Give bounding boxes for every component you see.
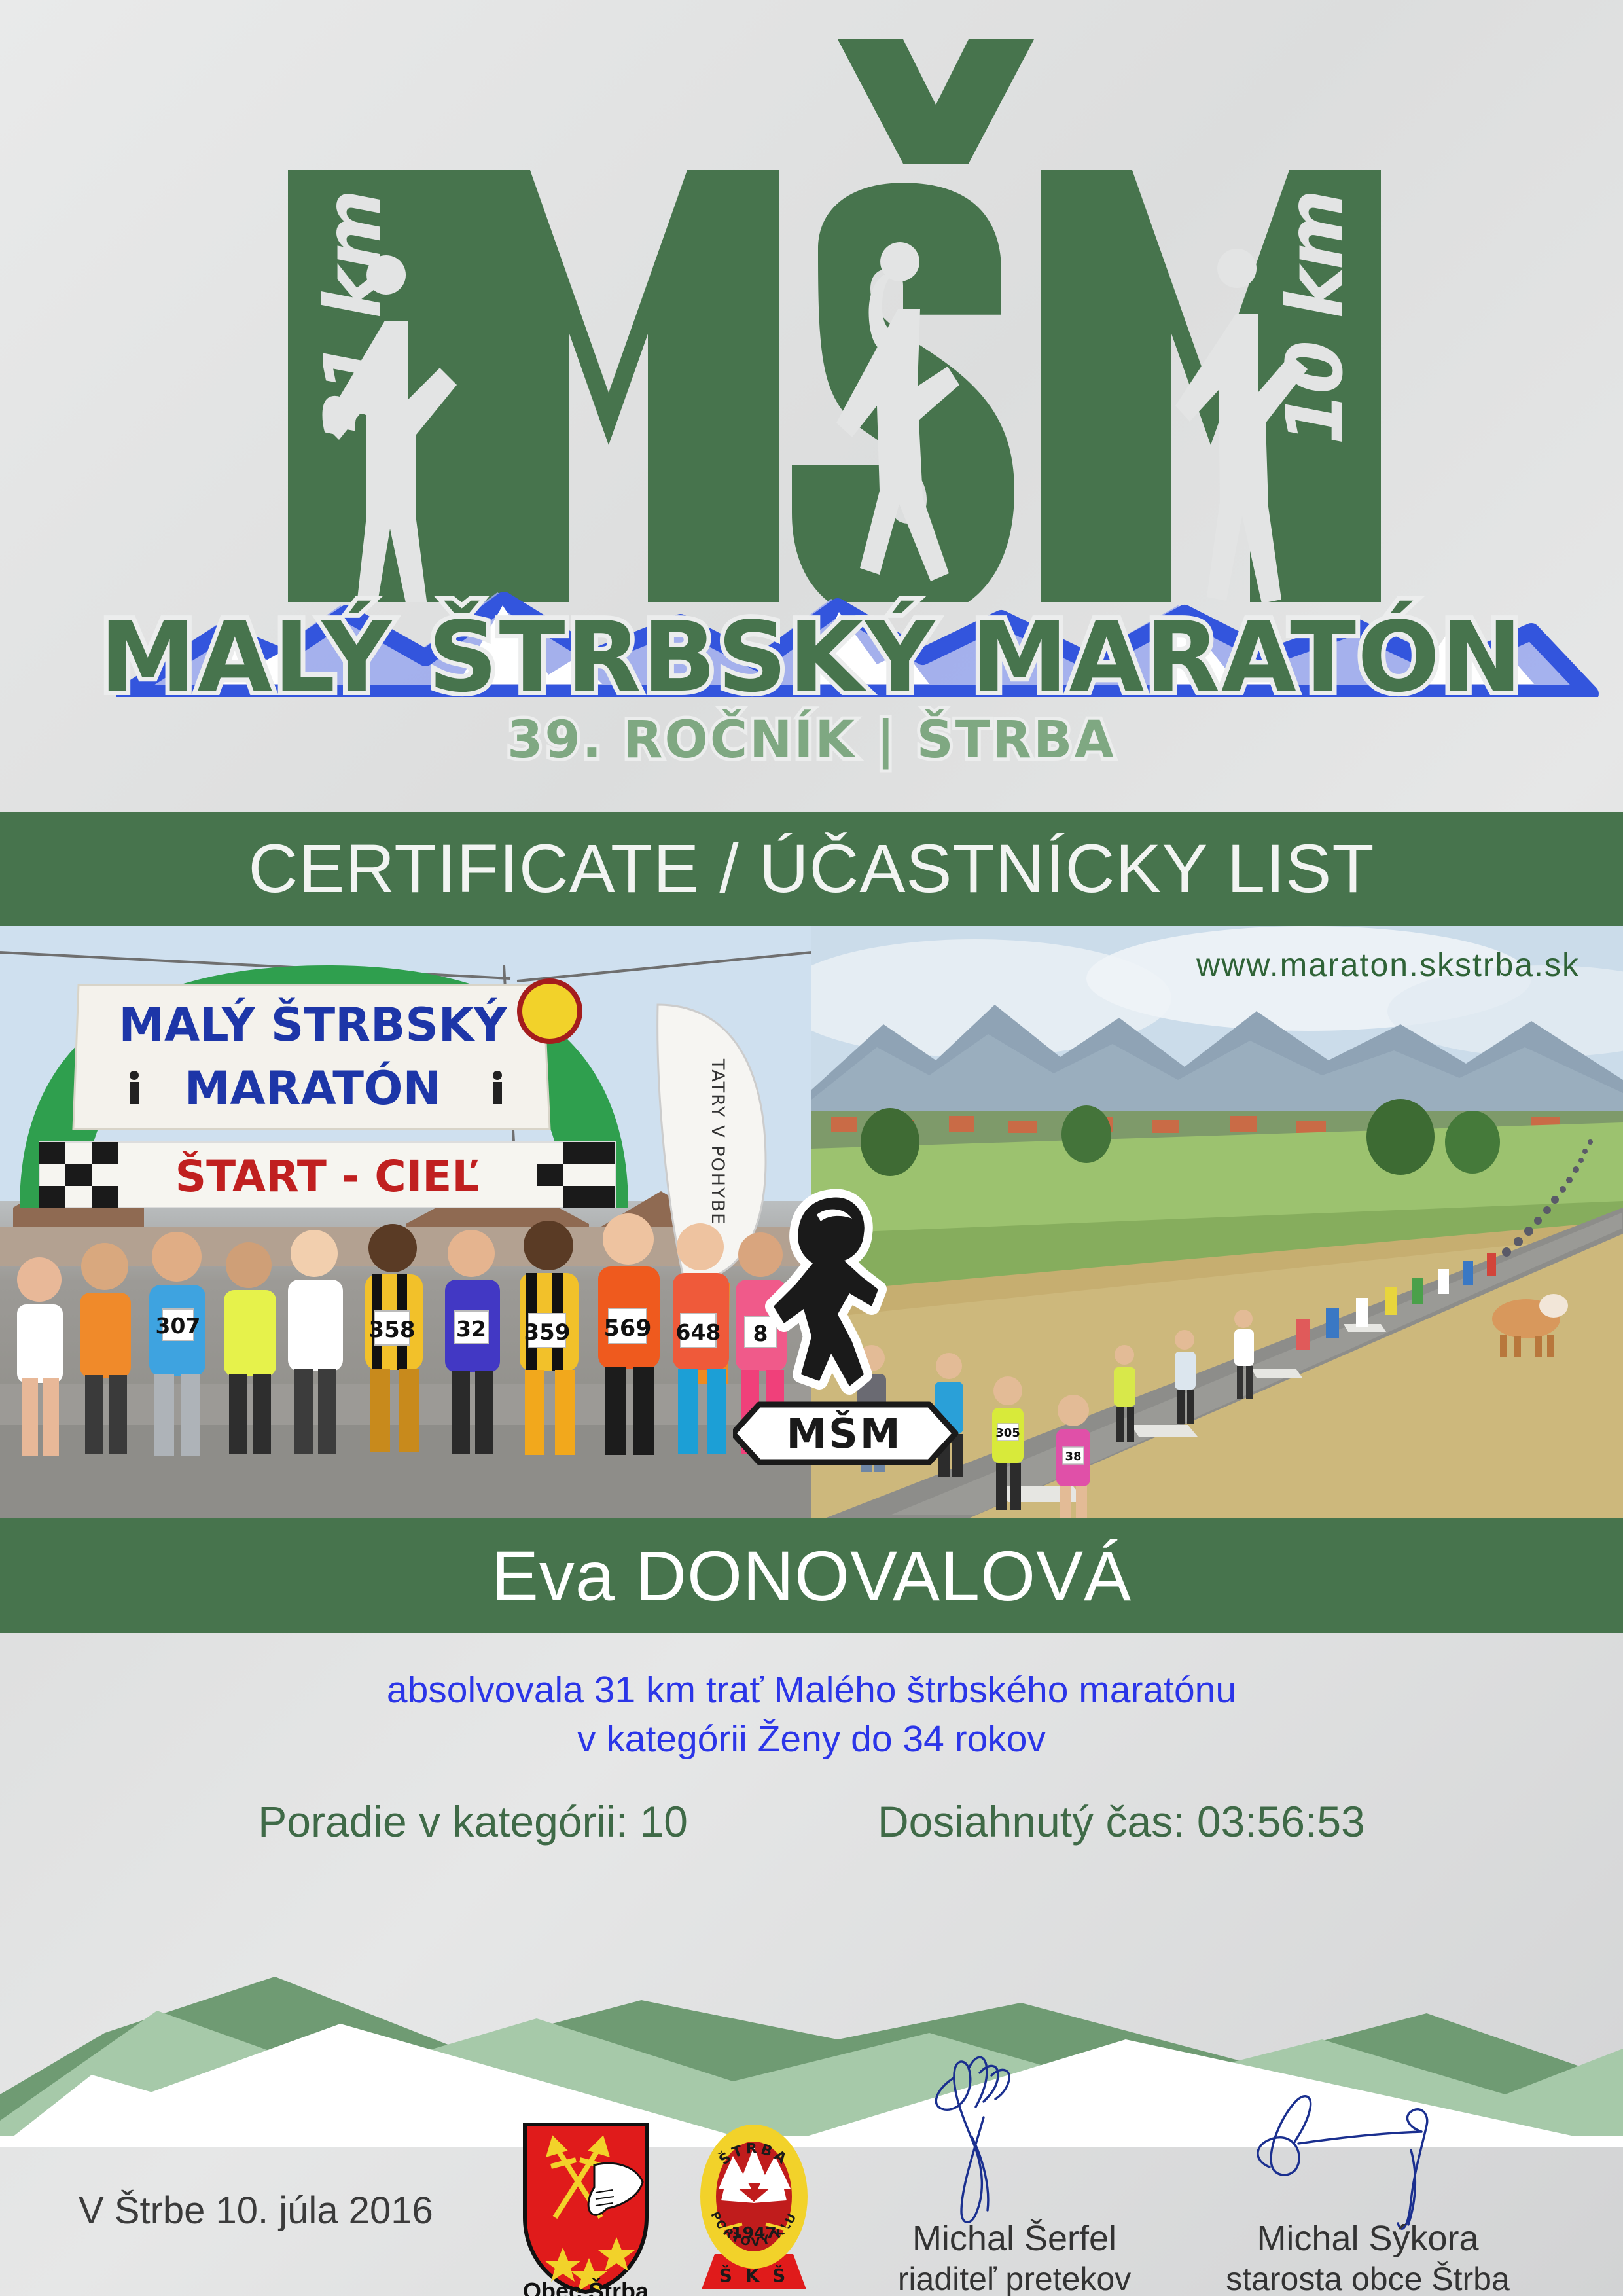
score-row: Poradie v kategórii: 10 Dosiahnutý čas: … [0, 1797, 1623, 1846]
finish-time: Dosiahnutý čas: 03:56:53 [878, 1797, 1365, 1846]
result-zone: absolvovala 31 km trať Malého štrbského … [0, 1633, 1623, 1908]
category-rank: Poradie v kategórii: 10 [258, 1797, 688, 1846]
signature-role: riaditeľ pretekov [844, 2261, 1185, 2296]
footer: V Štrbe 10. júla 2016 [0, 2081, 1623, 2296]
signature-name: Michal Sýkora [1198, 2219, 1538, 2258]
event-subtitle: 39. ROČNÍK | ŠTRBA [0, 715, 1623, 766]
arch-title-line2: MARATÓN [185, 1062, 441, 1115]
signature-block-mayor: Michal Sýkora starosta obce Štrba [1198, 2108, 1538, 2183]
participant-name: Eva DONOVALOVÁ [491, 1535, 1132, 1617]
logo-right-distance: 10 km [1270, 192, 1360, 445]
badge-label: MŠM [786, 1410, 902, 1458]
signature-mark-director [906, 2039, 1122, 2235]
msm-logo: 31 km 10 km [0, 0, 1623, 589]
signature-mark-mayor [1230, 2039, 1505, 2235]
obec-strba-emblem [517, 2119, 654, 2296]
obec-strba-caption: Obec Štrba [497, 2278, 674, 2296]
result-line-2: v kategórii Ženy do 34 rokov [0, 1715, 1623, 1764]
msm-runner-badge: MŠM [733, 1178, 962, 1505]
start-line-illustration: MALÝ ŠTRBSKÝ MARATÓN [0, 926, 811, 1518]
sks-year: 1947 [731, 2223, 777, 2242]
mountain-range-graphic [0, 553, 1623, 697]
runner-bib: 32 [456, 1316, 486, 1342]
logo-left-distance: 31 km [308, 192, 398, 445]
runner-bib: 38 [1065, 1450, 1081, 1463]
participant-name-band: Eva DONOVALOVÁ [0, 1518, 1623, 1633]
masthead: 31 km 10 km MALÝ ŠTRBSKÝ MARATÓN 39. ROČ… [0, 0, 1623, 812]
photo-start-line: MALÝ ŠTRBSKÝ MARATÓN [0, 926, 811, 1518]
certificate-page: 31 km 10 km MALÝ ŠTRBSKÝ MARATÓN 39. ROČ… [0, 0, 1623, 2296]
arch-title-line1: MALÝ ŠTRBSKÝ [118, 998, 508, 1052]
issue-date: V Štrbe 10. júla 2016 [79, 2189, 433, 2233]
arch-start-finish-banner: ŠTART - CIEĽ [175, 1151, 480, 1202]
flag-text: TATRY V POHYBE [707, 1058, 728, 1225]
runner-bib: 359 [524, 1319, 571, 1346]
certificate-band: CERTIFICATE / ÚČASTNÍCKY LIST [0, 812, 1623, 926]
sks-club-emblem: ŠTRBA ŠPORTOVÝ KLUB 1947 Š K Š [695, 2115, 813, 2293]
sks-initials: Š K Š [719, 2264, 789, 2286]
certificate-label: CERTIFICATE / ÚČASTNÍCKY LIST [249, 830, 1375, 908]
runner-bib: 358 [369, 1317, 416, 1343]
signature-name: Michal Šerfel [844, 2219, 1185, 2258]
runner-bib: 648 [676, 1319, 721, 1345]
result-description: absolvovala 31 km trať Malého štrbského … [0, 1633, 1623, 1764]
runner-bib: 307 [156, 1313, 201, 1338]
signature-block-director: Michal Šerfel riaditeľ pretekov [844, 2108, 1185, 2183]
result-line-1: absolvovala 31 km trať Malého štrbského … [0, 1666, 1623, 1715]
website-url[interactable]: www.maraton.skstrba.sk [1196, 946, 1580, 984]
runner-bib: 305 [995, 1426, 1020, 1440]
signature-role: starosta obce Štrba [1198, 2261, 1538, 2296]
runner-bib: 569 [603, 1316, 651, 1342]
msm-logo-graphic: 31 km 10 km [190, 26, 1433, 602]
